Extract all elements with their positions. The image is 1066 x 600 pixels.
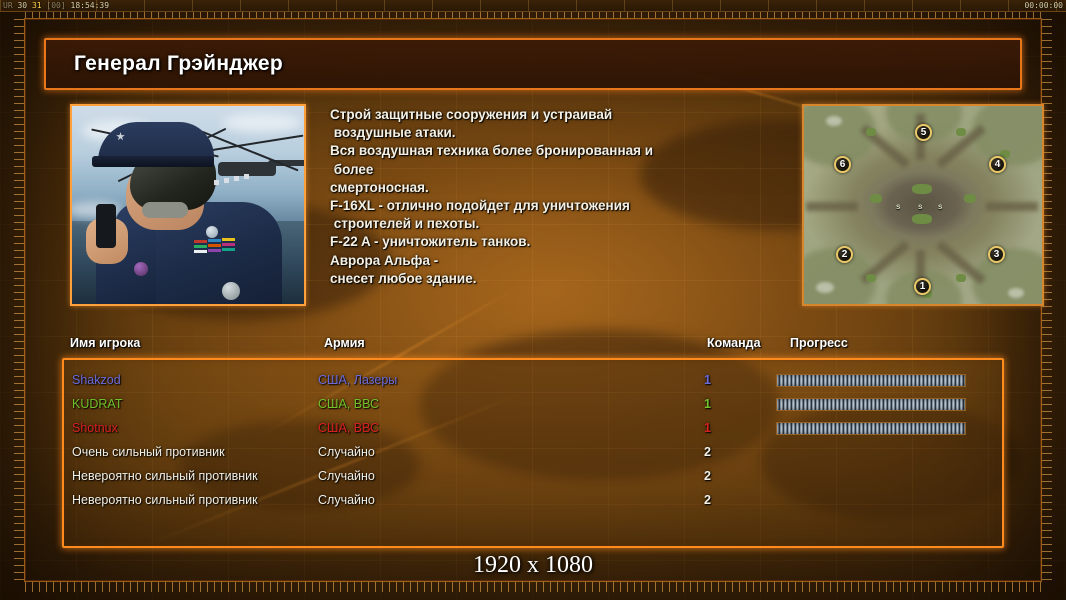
- minimap-start-position-1[interactable]: 1: [914, 278, 931, 295]
- general-description: Строй защитные сооружения и устраивай во…: [330, 104, 792, 306]
- minimap-foliage: [964, 194, 976, 203]
- portrait-image: [72, 106, 304, 304]
- progress-bar: [776, 398, 966, 411]
- command-badge-icon: [206, 226, 218, 238]
- game-screen: UR 30 31 [00] 18:54:39 00:00:00 Генерал …: [0, 0, 1066, 600]
- player-name: Невероятно сильный противник: [72, 493, 258, 507]
- minimap-rock: [816, 282, 834, 293]
- resolution-label: 1920 x 1080: [0, 552, 1066, 579]
- debug-clock: 18:54:39: [71, 1, 110, 10]
- description-text: Строй защитные сооружения и устраивай во…: [330, 104, 792, 288]
- service-ribbon: [208, 239, 221, 242]
- rank-star-icon: [224, 178, 229, 183]
- service-ribbon: [222, 243, 235, 246]
- table-row[interactable]: Очень сильный противникСлучайно2: [64, 440, 1004, 464]
- minimap-start-position-3[interactable]: 3: [988, 246, 1005, 263]
- debug-value-2: 31: [32, 1, 42, 10]
- pilot-wings-badge: [222, 282, 240, 300]
- player-team: 2: [704, 445, 711, 459]
- minimap-path: [986, 202, 1038, 211]
- panel-titlebar: Генерал Грэйнджер: [44, 38, 1022, 90]
- table-row[interactable]: ShotnuxСША, ВВС1: [64, 416, 1004, 440]
- rank-star-icon: [234, 176, 239, 181]
- progress-bar-fill: [777, 399, 965, 410]
- player-progress: [776, 398, 966, 411]
- officer-oxygen-hose: [142, 202, 188, 218]
- debug-stats: UR 30 31 [00] 18:54:39: [3, 1, 109, 10]
- table-row[interactable]: KUDRATСША, ВВС1: [64, 392, 1004, 416]
- debug-prefix: UR: [3, 1, 13, 10]
- player-progress: [776, 422, 966, 435]
- player-team: 1: [704, 421, 711, 435]
- service-ribbon: [194, 250, 207, 253]
- minimap-center-marker: s: [918, 202, 922, 211]
- player-list: ShakzodСША, Лазеры1KUDRATСША, ВВС1Shotnu…: [62, 358, 1004, 548]
- general-portrait: [70, 104, 306, 306]
- progress-bar: [776, 374, 966, 387]
- player-name: Очень сильный противник: [72, 445, 225, 459]
- player-name: KUDRAT: [72, 397, 122, 411]
- table-row[interactable]: ShakzodСША, Лазеры1: [64, 368, 1004, 392]
- minimap-foliage: [956, 274, 966, 282]
- page-title: Генерал Грэйнджер: [74, 52, 283, 76]
- radio-handset-icon: [96, 204, 116, 248]
- service-ribbon: [208, 249, 221, 252]
- player-team: 1: [704, 373, 711, 387]
- service-ribbon: [194, 245, 207, 248]
- player-army: Случайно: [318, 445, 375, 459]
- player-name: Shotnux: [72, 421, 118, 435]
- player-name: Невероятно сильный противник: [72, 469, 258, 483]
- statusbar-ticks: [0, 0, 1066, 11]
- column-header-team: Команда: [707, 336, 761, 350]
- frame-ruler-bottom: [25, 582, 1041, 592]
- debug-bracket: [00]: [46, 1, 65, 10]
- service-ribbon: [208, 244, 221, 247]
- medal-icon: [134, 262, 148, 276]
- loading-panel: Генерал Грэйнджер: [44, 38, 1022, 564]
- minimap-center-marker: s: [938, 202, 942, 211]
- player-team: 2: [704, 469, 711, 483]
- service-ribbon: [222, 238, 235, 241]
- rank-star-icon: [214, 180, 219, 185]
- player-army: Случайно: [318, 493, 375, 507]
- minimap-start-position-5[interactable]: 5: [915, 124, 932, 141]
- progress-bar-fill: [777, 375, 965, 386]
- minimap-rock: [826, 116, 842, 126]
- column-header-army: Армия: [324, 336, 365, 350]
- player-table-header: Имя игрока Армия Команда Прогресс: [70, 336, 996, 356]
- debug-value-1: 30: [17, 1, 27, 10]
- rank-star-icon: [244, 174, 249, 179]
- player-army: Случайно: [318, 469, 375, 483]
- minimap-image: s s s 564231: [804, 106, 1042, 304]
- player-army: США, Лазеры: [318, 373, 397, 387]
- minimap-foliage: [870, 194, 882, 203]
- portrait-cloud: [222, 114, 302, 132]
- player-army: США, ВВС: [318, 421, 379, 435]
- game-timer: 00:00:00: [1024, 1, 1063, 10]
- column-header-progress: Прогресс: [790, 336, 848, 350]
- player-army: США, ВВС: [318, 397, 379, 411]
- player-progress: [776, 374, 966, 387]
- minimap-rock: [1008, 288, 1024, 298]
- minimap-foliage: [866, 128, 876, 136]
- minimap-path: [806, 202, 858, 211]
- minimap-foliage: [912, 184, 932, 194]
- minimap-start-position-4[interactable]: 4: [989, 156, 1006, 173]
- debug-statusbar: UR 30 31 [00] 18:54:39 00:00:00: [0, 0, 1066, 12]
- minimap-foliage: [912, 214, 932, 224]
- progress-bar-fill: [777, 423, 965, 434]
- officer-cap-brim: [92, 156, 214, 167]
- player-name: Shakzod: [72, 373, 121, 387]
- player-team: 1: [704, 397, 711, 411]
- table-row[interactable]: Невероятно сильный противникСлучайно2: [64, 464, 1004, 488]
- minimap-start-position-2[interactable]: 2: [836, 246, 853, 263]
- minimap-foliage: [866, 274, 876, 282]
- player-team: 2: [704, 493, 711, 507]
- minimap-start-position-6[interactable]: 6: [834, 156, 851, 173]
- column-header-name: Имя игрока: [70, 336, 140, 350]
- minimap-center-marker: s: [896, 202, 900, 211]
- frame-ruler-left: [14, 19, 24, 581]
- table-row[interactable]: Невероятно сильный противникСлучайно2: [64, 488, 1004, 512]
- minimap-foliage: [956, 128, 966, 136]
- service-ribbon: [222, 248, 235, 251]
- service-ribbon: [194, 240, 207, 243]
- map-preview[interactable]: s s s 564231: [802, 104, 1044, 306]
- progress-bar: [776, 422, 966, 435]
